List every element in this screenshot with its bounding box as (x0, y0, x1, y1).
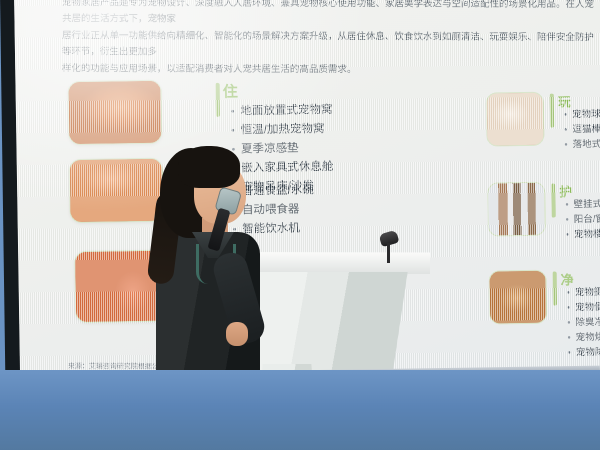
list-item: 宠物摄像头 (567, 284, 600, 300)
list-item: 宠物除螨仪 (568, 344, 600, 360)
list-item: 落地式猫爬架 (564, 136, 600, 152)
list-item: 逗猫棒 (564, 121, 600, 137)
dog-being-washed-photo (488, 270, 547, 325)
presenter-hair-front (178, 146, 240, 188)
list-item: 宠物球类 (564, 106, 600, 122)
list-item: 恒温/加热宠物窝 (231, 120, 333, 141)
section-accent-bar-zhu (215, 83, 220, 117)
slide-paragraph-line-2: 居行业正从单一功能供给向精细化、智能化的场景解决方案升级，从居住休息、饮食饮水到… (62, 28, 600, 62)
gooseneck-microphone-neck (387, 243, 390, 263)
list-item: 阳台/窗户防护网 (566, 211, 600, 227)
presenter-hand (226, 322, 248, 346)
section-heading-zhu: 住 (222, 81, 237, 102)
dog-with-toy-photo (486, 92, 545, 147)
list-item: 宠物楼梯/斜坡 (566, 226, 600, 242)
list-item: 除臭净味装置 (567, 314, 600, 330)
list-item: 壁挂式跳台 (565, 196, 600, 212)
section-list-jing: 宠物摄像头 宠物便盆净化器 除臭净味装置 宠物烘干机 宠物除螨仪 (567, 284, 600, 360)
list-item: 地面放置式宠物窝 (231, 101, 333, 122)
slide-paragraph-line-3: 样化的功能与应用场景，以适配消费者对人宠共居生活的高品质需求。 (62, 61, 600, 79)
stage-floor (0, 370, 600, 450)
conference-stage-photo: 功类 宠物家居产品是专为宠物设计、深度融入人居环境、兼具宠物核心使用功能、家居美… (0, 0, 600, 450)
cat-climbing-shelf-photo (487, 182, 546, 237)
section-list-wan: 宠物球类 逗猫棒 落地式猫爬架 (564, 106, 600, 152)
cat-sleeping-in-pet-bed-photo (67, 80, 162, 145)
gooseneck-microphone (378, 232, 400, 262)
slide-paragraph: 宠物家居产品是专为宠物设计、深度融入人居环境、兼具宠物核心使用功能、家居美学表达… (62, 0, 600, 80)
section-list-hu: 壁挂式跳台 阳台/窗户防护网 宠物楼梯/斜坡 (565, 196, 600, 242)
list-item: 宠物便盆净化器 (567, 299, 600, 315)
list-item: 宠物烘干机 (567, 329, 600, 345)
section-accent-bar-jing (552, 272, 557, 306)
slide-paragraph-line-1: 宠物家居产品是专为宠物设计、深度融入人居环境、兼具宠物核心使用功能、家居美学表达… (62, 0, 600, 29)
section-accent-bar-hu (551, 184, 556, 218)
section-accent-bar-wan (550, 94, 555, 128)
